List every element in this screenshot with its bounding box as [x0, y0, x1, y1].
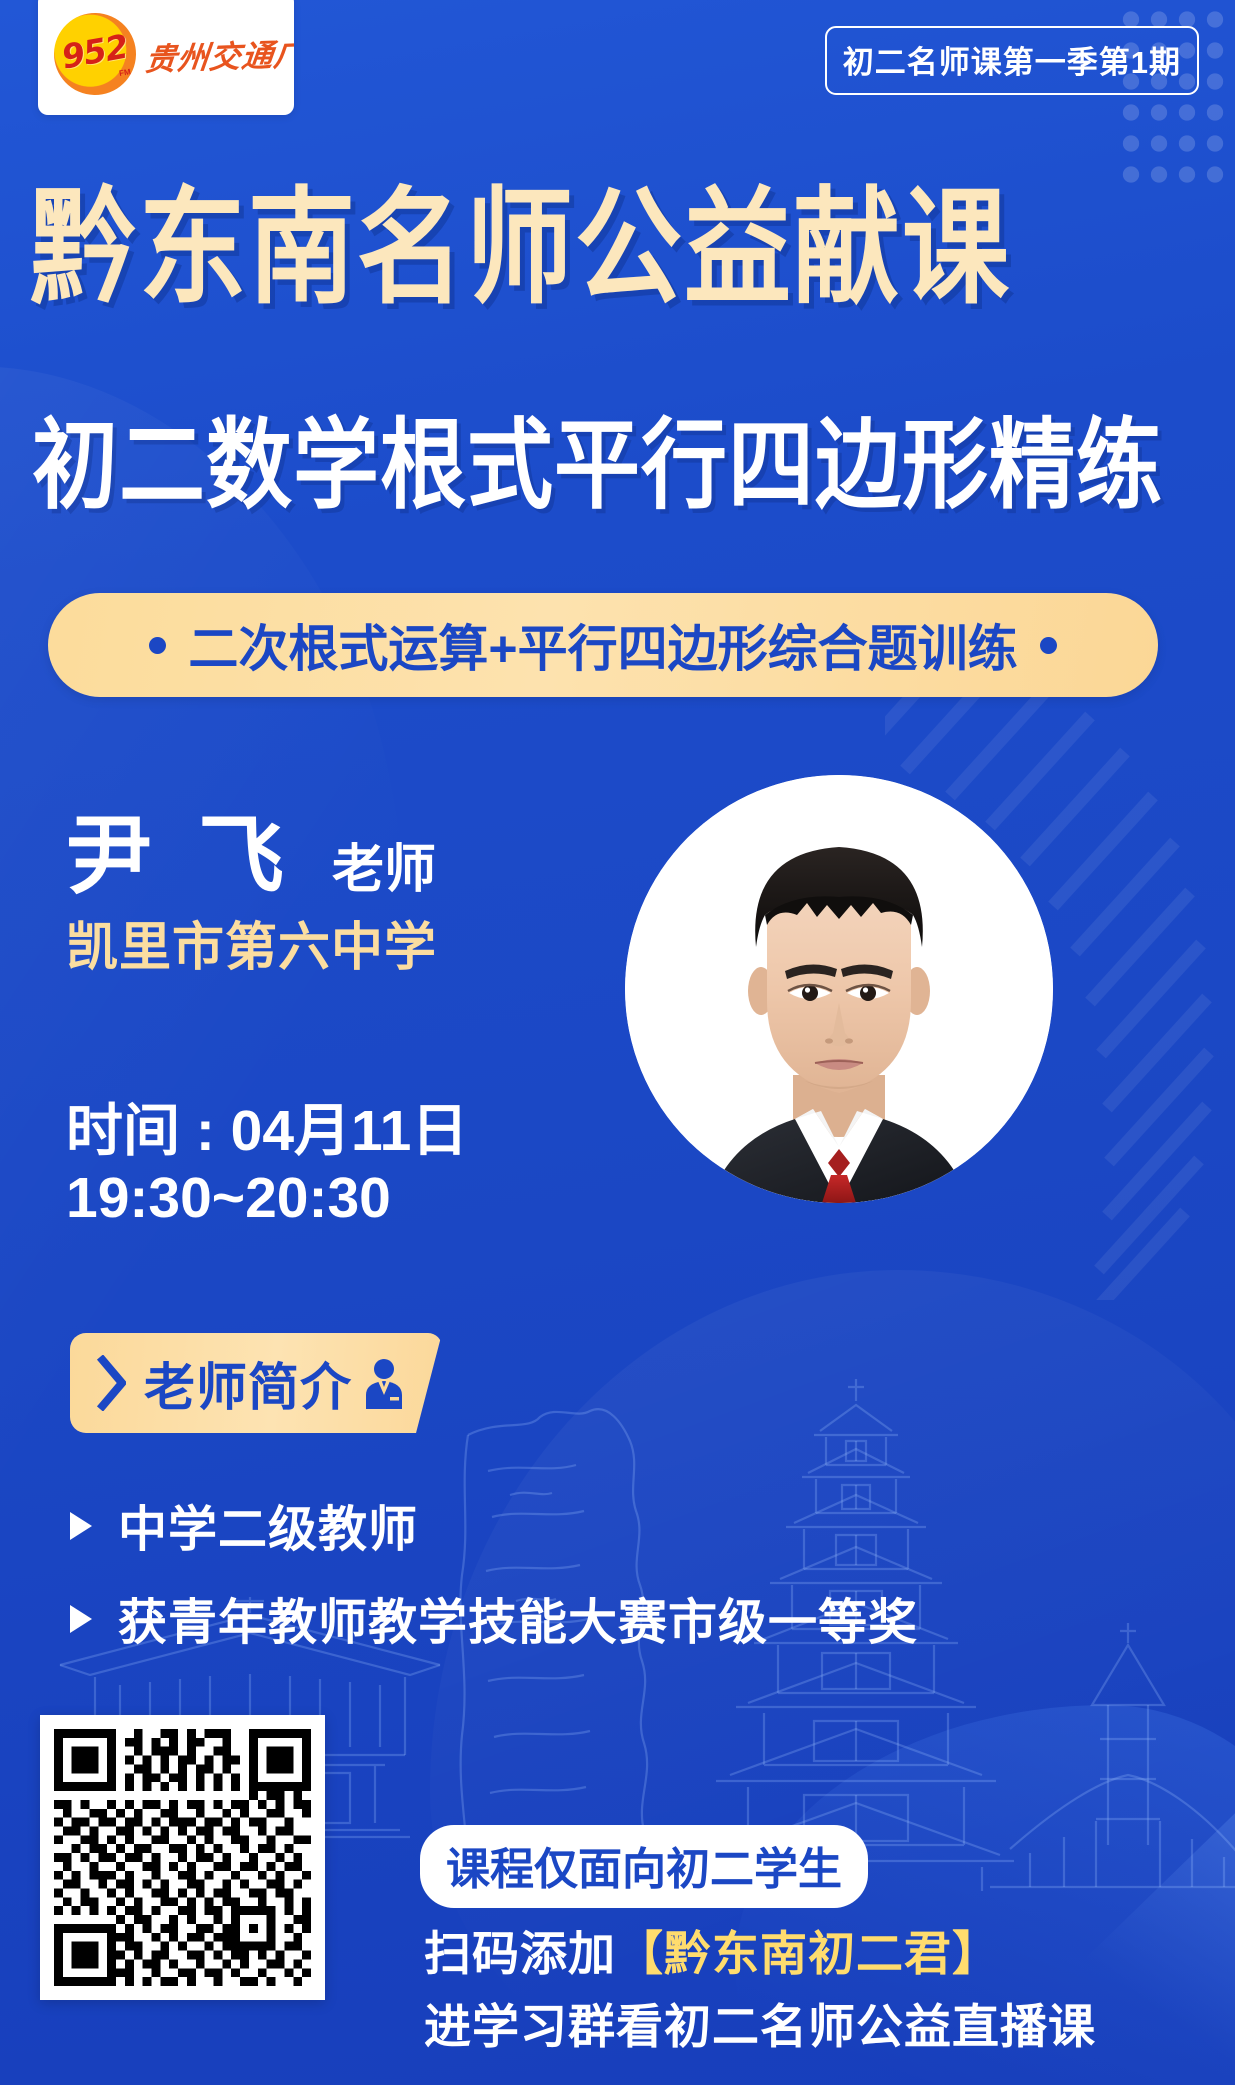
qr-code[interactable] [40, 1715, 325, 2000]
teacher-profile-tag: 老师简介 [70, 1333, 442, 1433]
teacher-portrait-illustration [625, 775, 1053, 1203]
teacher-person-icon [360, 1357, 408, 1409]
teacher-school: 凯里市第六中学 [66, 905, 437, 980]
poster-canvas: 952 FM 贵州交通广播 初二名师课第一季第1期 黔东南名师公益献课 初二数学… [0, 0, 1235, 2085]
triangle-bullet-icon [70, 1605, 92, 1633]
credential-text: 中学二级教师 [118, 1490, 418, 1561]
audience-badge: 课程仅面向初二学生 [420, 1825, 868, 1908]
credential-text: 获青年教师教学技能大赛市级一等奖 [118, 1583, 918, 1654]
session-time-range: 19:30~20:30 [66, 1165, 391, 1231]
qr-code-image [54, 1729, 311, 1986]
join-group-instruction: 进学习群看初二名师公益直播课 [424, 1988, 1096, 2057]
topic-pill-banner: 二次根式运算+平行四边形综合题训练 [48, 593, 1158, 697]
triangle-bullet-icon [70, 1512, 92, 1540]
topic-pill-label: 二次根式运算+平行四边形综合题训练 [188, 609, 1017, 681]
teacher-name-row: 尹飞 老师 [66, 785, 436, 910]
bullet-dot-icon-left [149, 637, 166, 654]
list-item: 获青年教师教学技能大赛市级一等奖 [70, 1583, 1150, 1654]
teacher-portrait-avatar [625, 775, 1053, 1203]
session-date: 时间 : 04月11日 [66, 1085, 468, 1167]
season-badge: 初二名师课第一季第1期 [825, 26, 1199, 95]
teacher-role-suffix: 老师 [332, 827, 436, 902]
teacher-name: 尹飞 [66, 785, 330, 910]
topic-pill-content: 二次根式运算+平行四边形综合题训练 [149, 609, 1056, 681]
station-logo-card: 952 FM 贵州交通广播 [38, 0, 294, 115]
chevron-right-icon [96, 1355, 126, 1411]
station-logo-disc-icon: 952 FM [48, 6, 143, 101]
group-name-highlight: 【黔东南初二君】 [616, 1927, 1000, 1980]
bullet-dot-icon-right [1040, 637, 1057, 654]
scan-instruction-prefix: 扫码添加 [424, 1927, 616, 1980]
teacher-profile-label: 老师简介 [144, 1346, 352, 1420]
teacher-credentials-list: 中学二级教师 获青年教师教学技能大赛市级一等奖 [70, 1490, 1150, 1676]
scan-instruction-line: 扫码添加【黔东南初二君】 [424, 1915, 1000, 1984]
station-logo-wordmark: 贵州交通广播 [143, 28, 294, 80]
station-logo-fm-label: FM [118, 67, 131, 78]
page-subtitle: 初二数学根式平行四边形精练 [32, 385, 1212, 528]
page-title: 黔东南名师公益献课 [30, 145, 1210, 328]
list-item: 中学二级教师 [70, 1490, 1150, 1561]
